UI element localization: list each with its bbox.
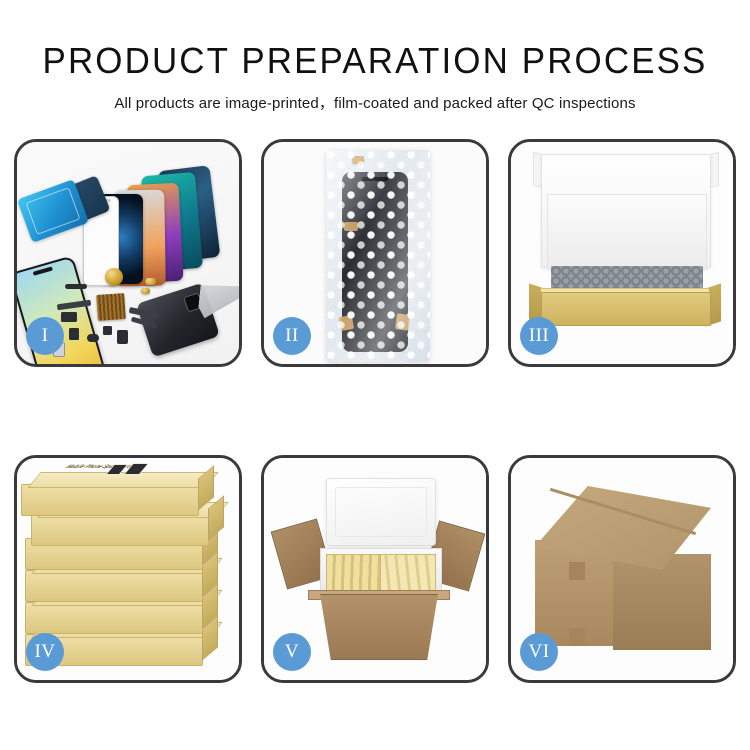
stacked-box-2: Mobile Phone Spare Parts <box>31 514 209 546</box>
gold-contact-part-2 <box>141 288 150 294</box>
process-step-4: Mobile Phone Spare Parts Mobile Phone Sp… <box>14 455 242 683</box>
speaker-mesh-part <box>105 268 123 286</box>
process-step-2: II <box>261 139 489 367</box>
kraft-boxes-in-tray-right <box>380 554 436 592</box>
process-step-5: V <box>261 455 489 683</box>
speaker-part <box>65 284 87 289</box>
stacked-box-4 <box>25 570 203 602</box>
foam-cooler-lid <box>326 478 436 546</box>
process-step-grid: I II <box>14 139 736 683</box>
product-preparation-process-page: PRODUCT PREPARATION PROCESS All products… <box>0 0 750 750</box>
sim-tray-part <box>69 328 79 340</box>
step-badge-5: V <box>273 633 311 671</box>
bubble-wrap-bag <box>326 150 430 362</box>
step-badge-2: II <box>273 317 311 355</box>
process-step-6: VI <box>508 455 736 683</box>
step-badge-3: III <box>520 317 558 355</box>
small-connector-part <box>103 326 112 335</box>
box-top-face: Mobile Phone Spare Parts <box>27 472 218 488</box>
step-badge-6: VI <box>520 633 558 671</box>
gold-contact-part <box>145 278 157 285</box>
carton-front-face <box>312 594 446 660</box>
camera-module <box>61 312 77 322</box>
page-title: PRODUCT PREPARATION PROCESS <box>11 0 739 79</box>
stacked-box-5 <box>25 602 203 634</box>
logic-board-chip <box>96 293 126 321</box>
carton-tape-upper <box>569 562 585 580</box>
step-badge-4: IV <box>26 633 64 671</box>
page-subtitle: All products are image-printed，film-coat… <box>0 79 750 113</box>
page-header: PRODUCT PREPARATION PROCESS All products… <box>0 0 750 113</box>
stacked-box-top: Mobile Phone Spare Parts <box>21 484 199 516</box>
battery-connector-part <box>117 330 128 344</box>
vibration-motor-part <box>87 334 99 342</box>
carton-tape-lower <box>569 628 585 646</box>
plastic-sheen <box>326 150 430 362</box>
kraft-box-front <box>541 292 711 326</box>
white-lid-face <box>547 194 707 270</box>
step-badge-1: I <box>26 317 64 355</box>
process-step-1: I <box>14 139 242 367</box>
process-step-3: III <box>508 139 736 367</box>
